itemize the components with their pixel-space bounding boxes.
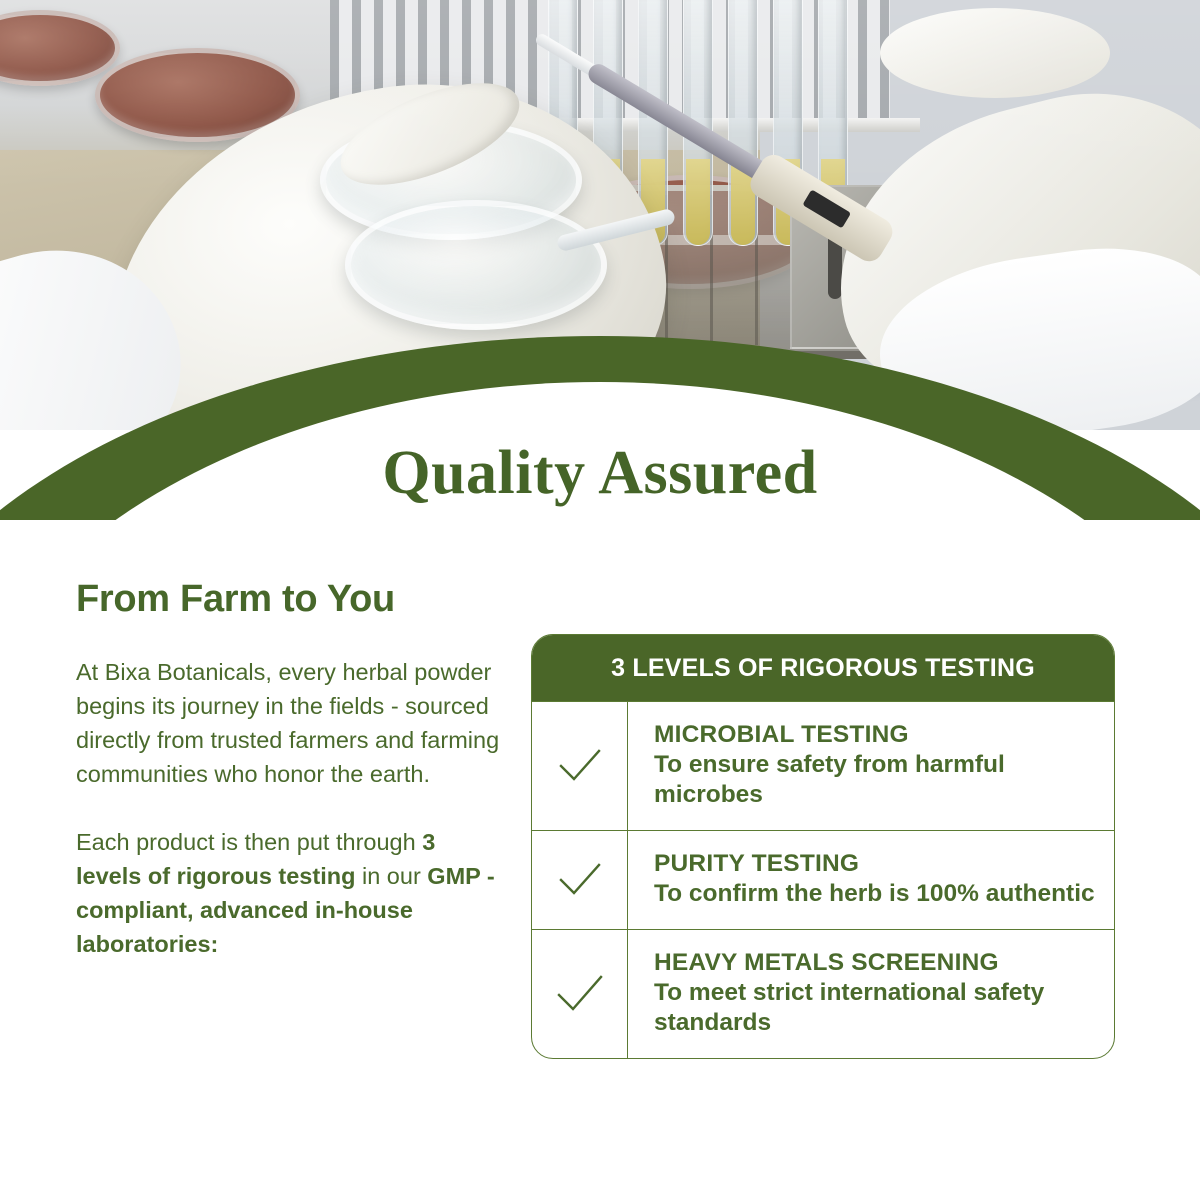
table-row: MICROBIAL TESTING To ensure safety from … (532, 701, 1114, 830)
paragraph-one: At Bixa Botanicals, every herbal powder … (76, 655, 506, 791)
row-text: PURITY TESTING To confirm the herb is 10… (628, 831, 1111, 929)
page-title: Quality Assured (0, 438, 1200, 509)
check-cell (532, 702, 628, 830)
test-tube (728, 0, 758, 246)
infographic-canvas: Quality Assured From Farm to You At Bixa… (0, 0, 1200, 1200)
check-icon (557, 860, 603, 900)
row-subtitle: To ensure safety from harmful microbes (654, 750, 1098, 810)
check-icon (554, 972, 606, 1017)
para2-text-1: Each product is then put through (76, 829, 422, 855)
testing-levels-card: 3 LEVELS OF RIGOROUS TESTING MICROBIAL T… (531, 634, 1115, 1059)
table-row: HEAVY METALS SCREENING To meet strict in… (532, 929, 1114, 1058)
card-header: 3 LEVELS OF RIGOROUS TESTING (532, 635, 1114, 701)
section-heading: From Farm to You (76, 578, 506, 621)
row-subtitle: To meet strict international safety stan… (654, 978, 1098, 1038)
check-cell (532, 831, 628, 929)
clear-petri-dish (345, 200, 607, 330)
check-icon (557, 746, 603, 786)
row-title: MICROBIAL TESTING (654, 720, 1098, 750)
row-text: MICROBIAL TESTING To ensure safety from … (628, 702, 1114, 830)
paragraph-two: Each product is then put through 3 level… (76, 825, 506, 961)
row-title: PURITY TESTING (654, 849, 1095, 879)
glove-knuckles (880, 8, 1110, 98)
para2-text-2: in our (355, 863, 427, 889)
table-row: PURITY TESTING To confirm the herb is 10… (532, 830, 1114, 929)
row-text: HEAVY METALS SCREENING To meet strict in… (628, 930, 1114, 1058)
row-subtitle: To confirm the herb is 100% authentic (654, 879, 1095, 909)
left-column: From Farm to You At Bixa Botanicals, eve… (76, 578, 506, 995)
row-title: HEAVY METALS SCREENING (654, 948, 1098, 978)
check-cell (532, 930, 628, 1058)
